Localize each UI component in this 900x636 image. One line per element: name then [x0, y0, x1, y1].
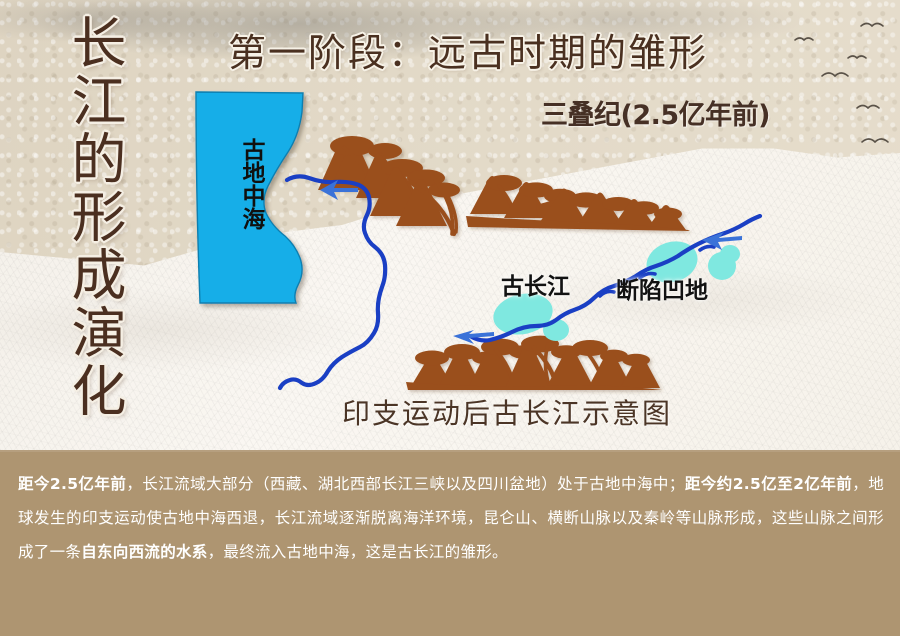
infographic-root: 长江的形成演化 第一阶段：远古时期的雏形 三叠纪(2.5亿年前) 古地中海 古长… — [0, 0, 900, 636]
mountain-range-north — [315, 136, 690, 234]
map-label-fault-basin: 断陷凹地 — [616, 271, 708, 305]
bird-silhouettes — [795, 24, 888, 143]
map-label-ancient-river: 古长江 — [501, 267, 570, 301]
page-title-vertical: 长江的形成演化 — [38, 14, 122, 420]
period-subheading: 三叠纪(2.5亿年前) — [541, 93, 770, 132]
description-paragraph: 距今2.5亿年前，长江流域大部分（西藏、湖北西部长江三峡以及四川盆地）处于古地中… — [18, 467, 884, 569]
map-label-sea: 古地中海 — [229, 138, 263, 230]
map-caption: 印支运动后古长江示意图 — [342, 392, 672, 432]
stage-heading: 第一阶段：远古时期的雏形 — [228, 22, 708, 77]
description-panel: 距今2.5亿年前，长江流域大部分（西藏、湖北西部长江三峡以及四川盆地）处于古地中… — [0, 450, 900, 636]
mountain-range-south — [406, 336, 664, 390]
